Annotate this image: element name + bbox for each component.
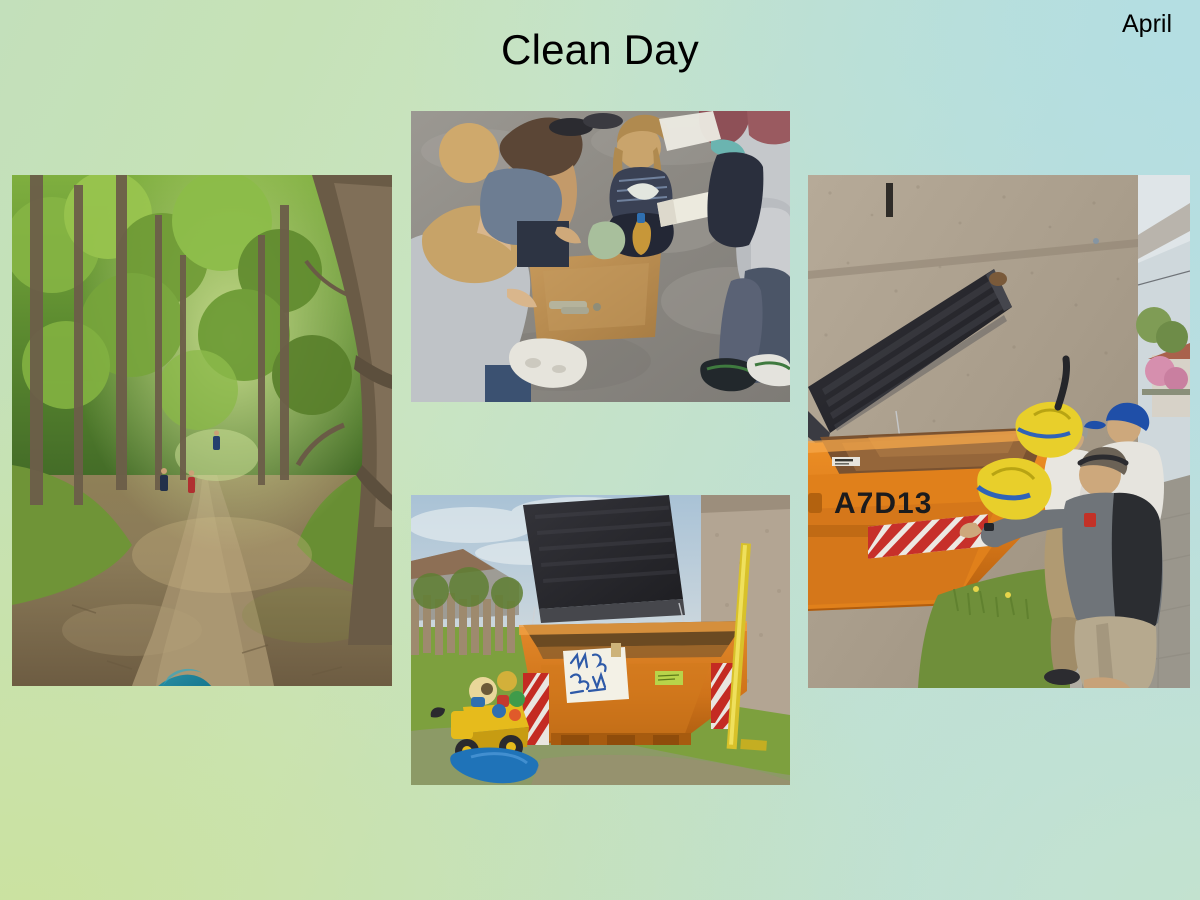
photo-skip-loading-image: A7D13 — [808, 175, 1190, 688]
photo-trash-sorting[interactable] — [411, 111, 790, 402]
presentation-slide: Clean Day April — [0, 0, 1200, 900]
skip-sign — [563, 643, 629, 703]
photo-skip-with-toys[interactable] — [411, 495, 790, 785]
photo-trash-sorting-image — [411, 111, 790, 402]
photo-skip-loading[interactable]: A7D13 — [808, 175, 1190, 688]
photo-forest-path[interactable] — [12, 175, 392, 686]
photo-forest-path-image — [12, 175, 392, 686]
month-label: April — [1122, 10, 1172, 39]
skip-container-id: A7D13 — [834, 487, 932, 520]
photo-skip-with-toys-image — [411, 495, 790, 785]
page-title: Clean Day — [0, 26, 1200, 74]
